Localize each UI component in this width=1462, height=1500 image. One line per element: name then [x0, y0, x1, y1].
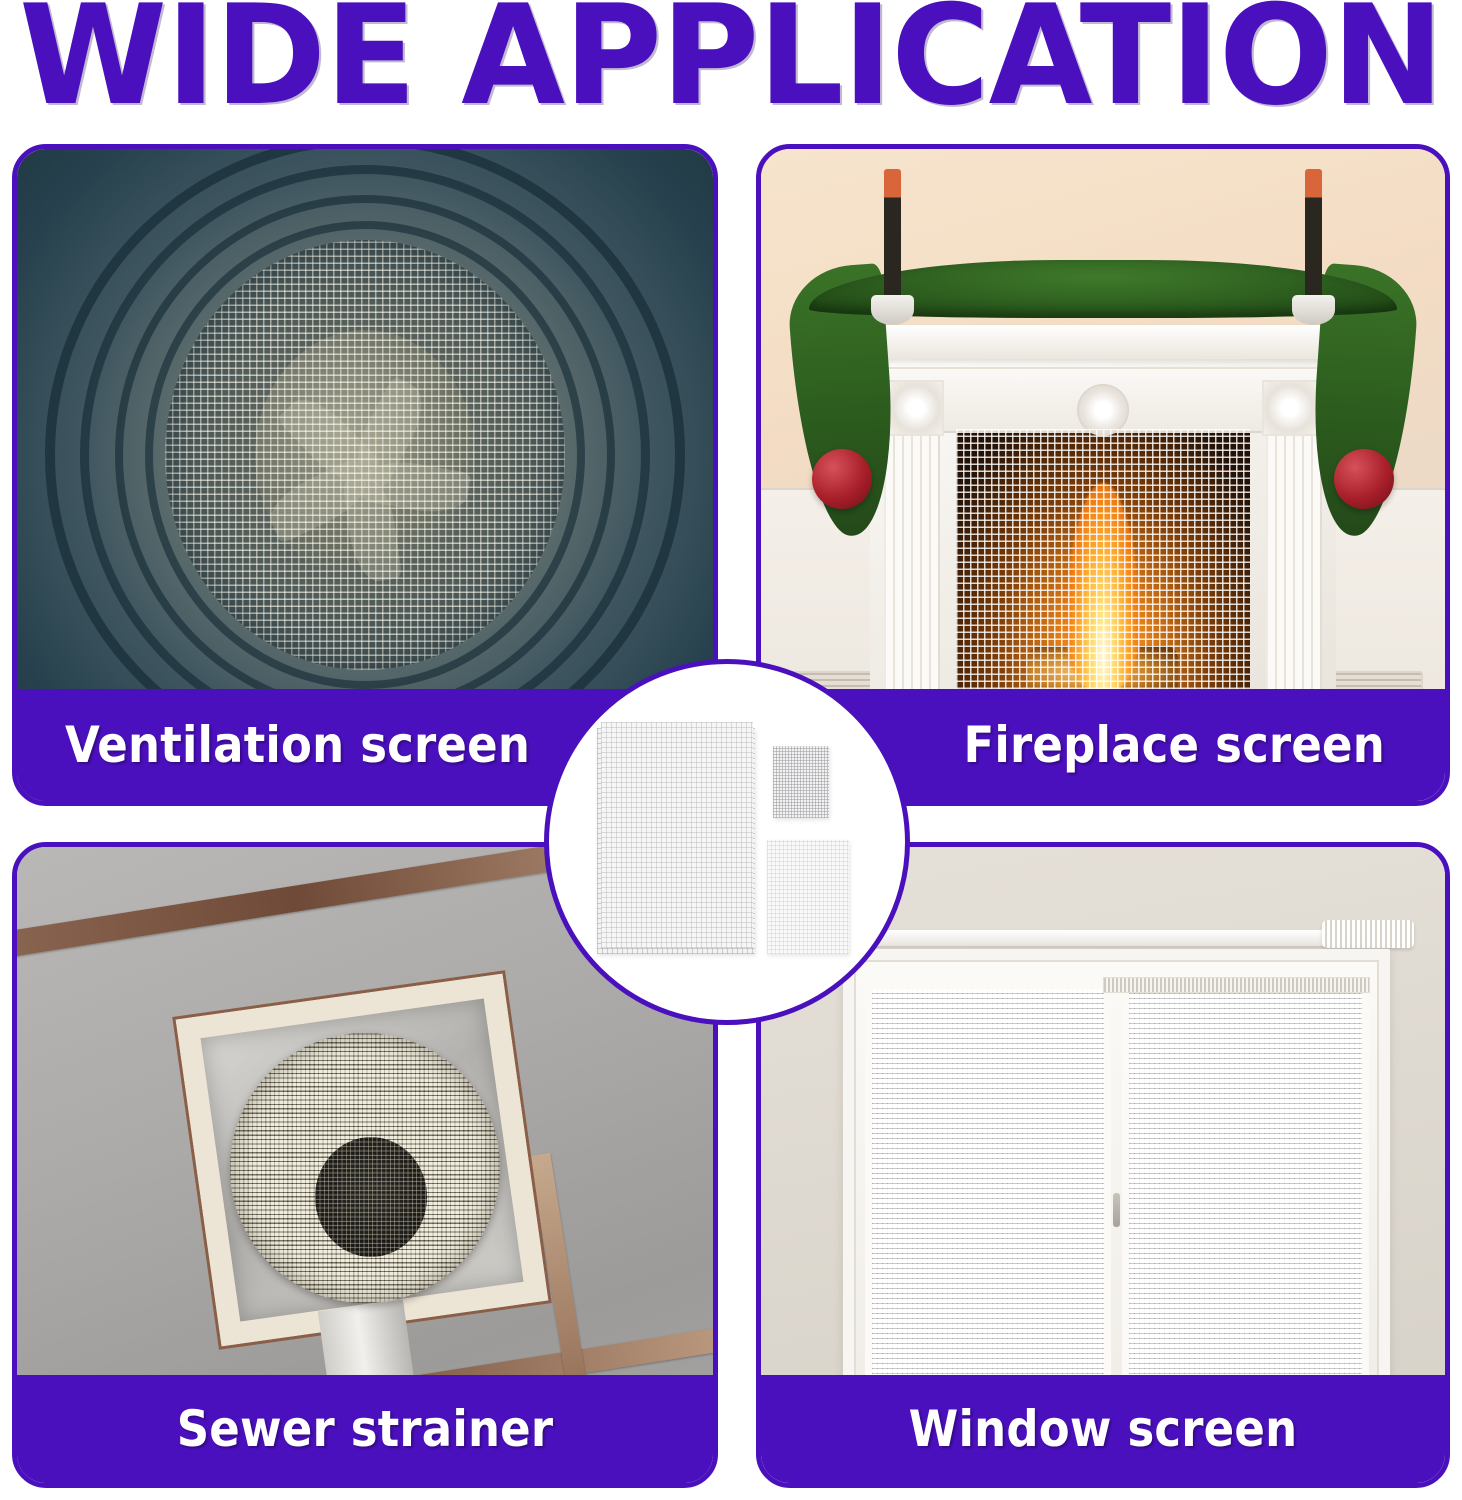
window-mesh-left	[872, 989, 1105, 1379]
window-sash-right[interactable]	[1122, 982, 1369, 1386]
product-mesh-sheet-small	[773, 746, 829, 818]
mantel-pillar-right	[1266, 423, 1322, 710]
vent-mesh-screen	[165, 240, 565, 670]
poster-root: WIDE APPLICATION Ventilation screen	[0, 0, 1462, 1500]
candlestick-right	[1305, 169, 1322, 299]
drain-hole	[315, 1137, 427, 1257]
window-sash-left[interactable]	[865, 982, 1112, 1386]
mantel-shelf	[843, 325, 1363, 359]
label-band-sewer: Sewer strainer	[17, 1375, 713, 1483]
panel-label-fireplace: Fireplace screen	[963, 716, 1385, 774]
window-handle[interactable]	[1113, 1193, 1120, 1227]
page-title: WIDE APPLICATION	[0, 0, 1462, 120]
center-product-circle[interactable]	[544, 659, 910, 1025]
mantel-rosette-right	[1262, 380, 1318, 436]
mantel-rosette-center	[1077, 384, 1129, 436]
christmas-ornament-left	[812, 449, 872, 509]
product-mesh-sheet-large	[597, 728, 755, 954]
fireplace-opening	[956, 429, 1250, 709]
curtain-rail-end-cap	[1322, 920, 1414, 948]
panel-label-sewer-strainer: Sewer strainer	[177, 1400, 554, 1458]
window-top-vent	[1103, 977, 1370, 993]
candlestick-left	[884, 169, 901, 299]
christmas-ornament-right	[1334, 449, 1394, 509]
window-frame	[843, 949, 1390, 1420]
drain-hole-mesh	[315, 1137, 427, 1257]
curtain-rail	[829, 930, 1404, 946]
mantel-pillar-left	[884, 423, 940, 710]
panel-fireplace[interactable]: Fireplace screen	[756, 144, 1450, 806]
product-mesh-sheet-medium	[767, 840, 849, 954]
panel-label-window-screen: Window screen	[909, 1400, 1298, 1458]
panel-label-ventilation: Ventilation screen	[65, 716, 530, 774]
label-band-window: Window screen	[761, 1375, 1445, 1483]
window-mesh-right	[1129, 989, 1362, 1379]
fireplace-mesh-screen	[956, 429, 1250, 709]
mantel-rosette-left	[888, 380, 944, 436]
